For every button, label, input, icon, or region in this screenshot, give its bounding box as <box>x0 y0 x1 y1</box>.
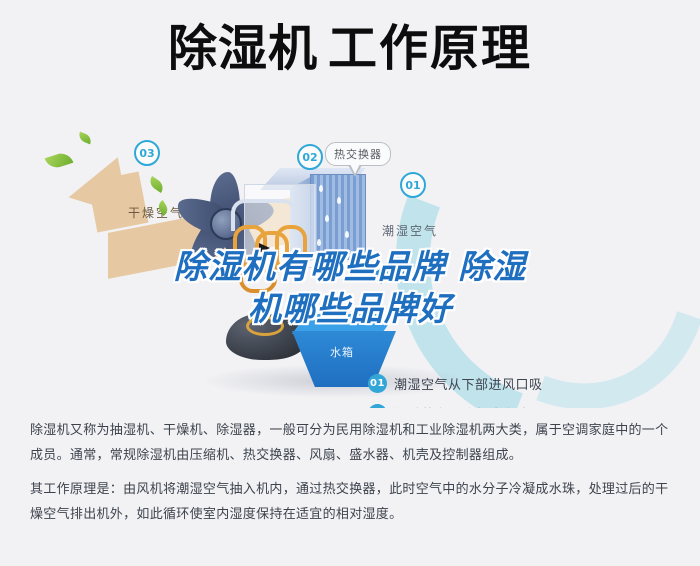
diagram-legend: 01 潮湿空气从下部进风口吸 02 经过蒸发器冷凝成水珠 03 从上部出风口吹出… <box>368 368 688 408</box>
diagram-badge-01: 01 <box>400 172 426 198</box>
air-inlet-arrow-shaft <box>380 271 420 281</box>
page-title: 除湿机工作原理 <box>0 24 700 73</box>
humid-air-label: 潮湿空气 <box>382 222 438 239</box>
legend-badge-02: 02 <box>368 404 387 409</box>
legend-row: 02 经过蒸发器冷凝成水珠 <box>368 398 688 408</box>
air-inlet-arrow-icon <box>368 268 420 284</box>
heat-exchanger-callout: 热交换器 <box>325 142 391 166</box>
water-tank-label: 水箱 <box>330 344 354 360</box>
dehumidifier-diagram: 干燥空气 <box>0 118 700 408</box>
condensation-droplet-icon <box>325 215 329 222</box>
article-paragraph-1: 除湿机又称为抽湿机、干燥机、除湿器，一般可分为民用除湿机和工业除湿机两大类，属于… <box>30 418 675 468</box>
condensation-droplet-icon <box>319 185 323 192</box>
leaf-icon <box>77 132 93 145</box>
condensation-droplet-icon <box>337 197 341 204</box>
heat-exchanger-fins <box>310 174 366 260</box>
page-title-part2: 工作原理 <box>328 20 532 77</box>
condensation-droplet-icon <box>345 231 349 238</box>
page-title-part1: 除湿机 <box>168 20 318 77</box>
heat-exchanger-icon <box>262 150 392 282</box>
flow-arrow-up-icon <box>253 263 263 274</box>
flow-arrow-right-icon <box>259 243 270 253</box>
article-body: 除湿机又称为抽湿机、干燥机、除湿器，一般可分为民用除湿机和工业除湿机两大类，属于… <box>30 418 675 536</box>
legend-text-02: 经过蒸发器冷凝成水珠 <box>394 404 529 409</box>
diagram-badge-02: 02 <box>297 144 323 170</box>
compressor-ring <box>246 316 284 336</box>
compressor-coil-housing <box>244 184 316 268</box>
air-inlet-arrow-head <box>368 268 382 284</box>
dry-air-arrow-head <box>63 157 129 227</box>
page-root: 除湿机工作原理 干燥空气 <box>0 0 700 566</box>
refrigerant-coil-icon <box>239 255 277 293</box>
legend-badge-01: 01 <box>368 374 387 393</box>
diagram-badge-03: 03 <box>134 140 160 166</box>
article-paragraph-2: 其工作原理是：由风机将潮湿空气抽入机内，通过热交换器，此时空气中的水分子冷凝成水… <box>30 477 675 527</box>
legend-row: 01 潮湿空气从下部进风口吸 <box>368 368 688 398</box>
legend-text-01: 潮湿空气从下部进风口吸 <box>394 374 543 393</box>
flow-arrow-down-icon <box>285 255 295 266</box>
condensation-droplet-icon <box>317 239 321 246</box>
